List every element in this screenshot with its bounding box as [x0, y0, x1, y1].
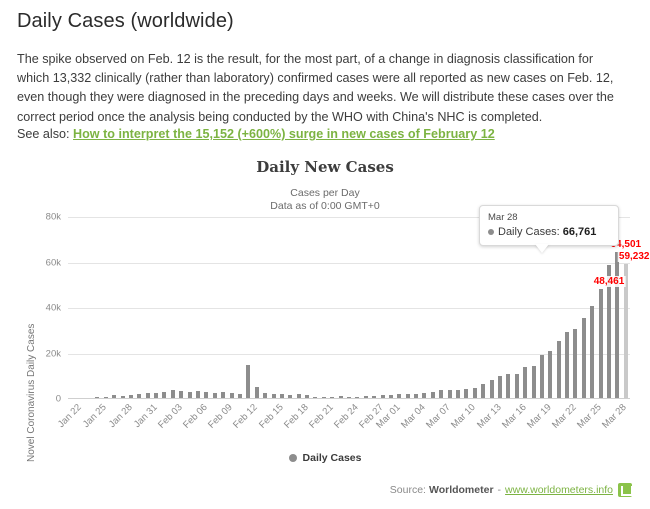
gridline	[68, 263, 630, 264]
x-tick-label: Mar 28	[600, 402, 629, 431]
x-tick-label: Jan 31	[131, 402, 159, 430]
chart-panel: Daily New Cases Cases per Day Data as of…	[0, 152, 650, 509]
see-also-line: See also: How to interpret the 15,152 (+…	[17, 126, 495, 143]
tooltip-row: Daily Cases: 66,761	[488, 226, 610, 238]
bar[interactable]	[590, 306, 594, 399]
bar[interactable]	[506, 374, 510, 399]
value-label: 59,232	[618, 251, 650, 262]
bar[interactable]	[246, 365, 250, 399]
y-tick-label: 80k	[46, 212, 61, 223]
chart-legend[interactable]: Daily Cases	[0, 452, 650, 464]
bar[interactable]	[490, 380, 494, 399]
page-header: Daily Cases (worldwide)	[17, 8, 633, 34]
bar[interactable]	[498, 376, 502, 399]
x-tick-label: Feb 15	[257, 402, 286, 431]
legend-marker-icon	[289, 454, 297, 462]
y-tick-label: 60k	[46, 257, 61, 268]
x-tick-label: Mar 07	[424, 402, 453, 431]
bar[interactable]	[599, 289, 603, 399]
y-tick-label: 20k	[46, 348, 61, 359]
worldometer-logo-icon	[618, 483, 632, 497]
source-separator: -	[498, 484, 502, 496]
y-tick-label: 0	[56, 394, 61, 405]
bar[interactable]	[481, 384, 485, 399]
x-axis-line	[68, 398, 630, 399]
x-tick-label: Feb 21	[307, 402, 336, 431]
x-tick-label: Feb 18	[282, 402, 311, 431]
x-tick-label: Mar 22	[550, 402, 579, 431]
intro-paragraph: The spike observed on Feb. 12 is the res…	[17, 50, 623, 127]
x-tick-label: Feb 06	[181, 402, 210, 431]
source-brand: Worldometer	[429, 484, 494, 496]
chart-title: Daily New Cases	[0, 158, 650, 176]
bar[interactable]	[557, 341, 561, 399]
x-tick-label: Jan 25	[81, 402, 109, 430]
bar[interactable]	[548, 351, 552, 399]
tooltip-series-name: Daily Cases:	[498, 226, 560, 238]
x-tick-label: Feb 12	[231, 402, 260, 431]
page-title: Daily Cases (worldwide)	[17, 8, 633, 34]
chart-tooltip: Mar 28 Daily Cases: 66,761	[479, 205, 619, 246]
gridline	[68, 308, 630, 309]
see-also-link[interactable]: How to interpret the 15,152 (+600%) surg…	[73, 127, 495, 141]
x-tick-label: Mar 25	[575, 402, 604, 431]
tooltip-bullet-icon	[488, 229, 494, 235]
x-tick-label: Jan 22	[56, 402, 84, 430]
bar[interactable]	[523, 367, 527, 399]
tooltip-value: 66,761	[563, 226, 597, 238]
bar[interactable]	[532, 366, 536, 399]
source-url-link[interactable]: www.worldometers.info	[505, 484, 613, 496]
legend-item-daily-cases[interactable]: Daily Cases	[303, 452, 362, 464]
bar[interactable]	[540, 355, 544, 399]
y-axis-title: Novel Coronavirus Daily Cases	[26, 324, 37, 462]
gridline	[68, 354, 630, 355]
bar[interactable]	[615, 252, 619, 399]
x-tick-label: Mar 13	[475, 402, 504, 431]
source-prefix: Source:	[390, 484, 426, 496]
x-tick-label: Mar 19	[525, 402, 554, 431]
x-tick-label: Jan 28	[106, 402, 134, 430]
x-tick-label: Feb 03	[156, 402, 185, 431]
x-tick-label: Feb 24	[332, 402, 361, 431]
value-label: 48,461	[593, 276, 626, 287]
x-tick-label: Mar 04	[399, 402, 428, 431]
x-tick-label: Mar 16	[500, 402, 529, 431]
y-tick-label: 40k	[46, 303, 61, 314]
bar[interactable]	[515, 374, 519, 399]
x-tick-label: Mar 10	[450, 402, 479, 431]
tooltip-pointer	[535, 244, 549, 253]
bar[interactable]	[573, 329, 577, 399]
x-tick-label: Feb 09	[206, 402, 235, 431]
source-footer: Source: Worldometer - www.worldometers.i…	[390, 483, 632, 497]
x-axis-tick-labels: Jan 22Jan 25Jan 28Jan 31Feb 03Feb 06Feb …	[68, 402, 630, 457]
tooltip-date: Mar 28	[488, 212, 610, 223]
bar[interactable]	[582, 318, 586, 399]
chart-subtitle: Cases per Day	[0, 187, 650, 199]
bar[interactable]	[565, 332, 569, 399]
see-also-prefix: See also:	[17, 127, 70, 141]
